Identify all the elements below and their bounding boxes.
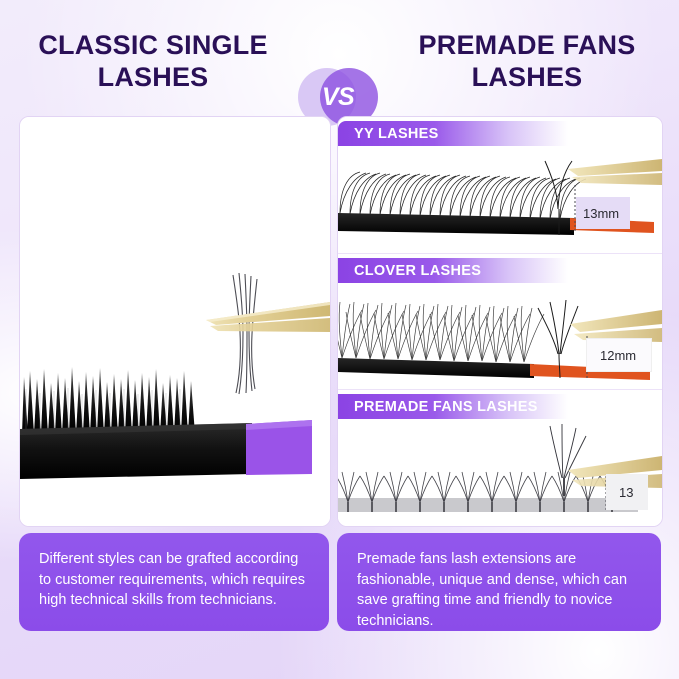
left-title-line1: CLASSIC SINGLE — [8, 30, 298, 62]
premade-fans-measurement: 13 — [613, 485, 633, 500]
clover-lashes-measurement: 12mm — [594, 348, 636, 363]
classic-single-lashes-caption: Different styles can be grafted accordin… — [19, 533, 329, 631]
yy-lashes-banner: YY LASHES — [338, 121, 568, 146]
classic-single-lashes-illustration — [20, 117, 330, 526]
clover-lashes-measurement-chip: 12mm — [586, 338, 652, 372]
premade-fans-lashes-caption: Premade fans lash extensions are fashion… — [337, 533, 661, 631]
yy-lashes-measurement: 13mm — [583, 206, 619, 221]
premade-fans-lashes-card: YY LASHES 13mm — [337, 116, 663, 527]
premade-fans-lashes-section: PREMADE FANS LASHES 13 — [338, 389, 662, 527]
right-title-line2: LASHES — [382, 62, 672, 94]
clover-lashes-banner: CLOVER LASHES — [338, 258, 568, 283]
premade-fans-measurement-chip: 13 — [606, 474, 648, 510]
premade-fans-label: PREMADE FANS LASHES — [338, 399, 538, 415]
yy-lashes-section: YY LASHES 13mm — [338, 117, 662, 253]
left-title-line2: LASHES — [8, 62, 298, 94]
clover-lashes-section: CLOVER LASHES 12mm — [338, 253, 662, 390]
purple-tab — [246, 420, 312, 475]
right-title-line1: PREMADE FANS — [382, 30, 672, 62]
yy-lashes-label: YY LASHES — [338, 126, 439, 142]
left-panel-title: CLASSIC SINGLE LASHES — [8, 30, 298, 94]
clover-lashes-label: CLOVER LASHES — [338, 263, 481, 279]
infographic-canvas: CLASSIC SINGLE LASHES VS PREMADE FANS LA… — [0, 0, 679, 679]
right-panel-title: PREMADE FANS LASHES — [382, 30, 672, 94]
classic-single-lashes-card — [19, 116, 331, 527]
yy-lashes-measurement-chip: 13mm — [576, 197, 630, 229]
header: CLASSIC SINGLE LASHES VS PREMADE FANS LA… — [0, 30, 679, 108]
premade-fans-banner: PREMADE FANS LASHES — [338, 394, 568, 419]
